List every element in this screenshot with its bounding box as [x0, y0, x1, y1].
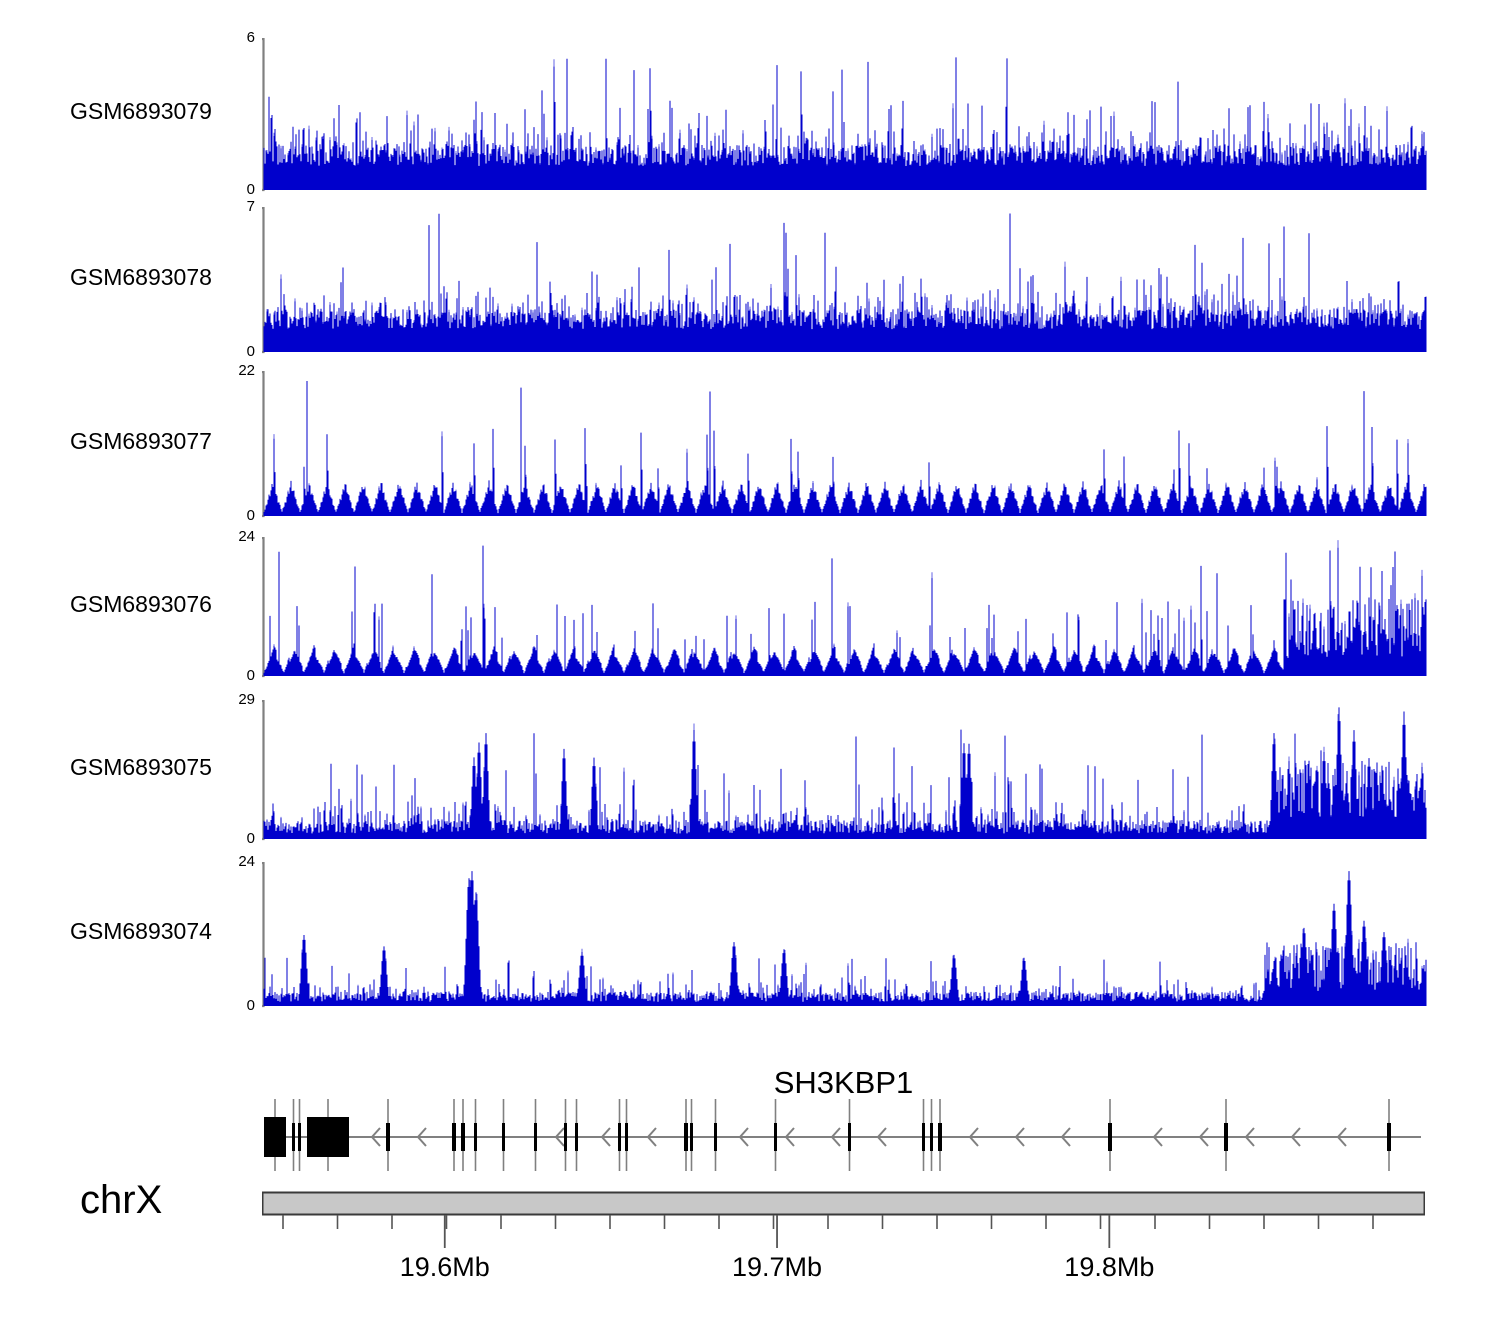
track-axis-max-label: 22	[215, 363, 255, 378]
track-axis-max-label: 7	[215, 199, 255, 214]
coverage-plot[interactable]	[262, 700, 1429, 841]
track-sample-label: GSM6893075	[70, 754, 235, 781]
track-sample-label: GSM6893076	[70, 591, 235, 618]
axis-tick-label: 19.8Mb	[1064, 1252, 1154, 1282]
axis-tick-label: 19.6Mb	[400, 1252, 490, 1282]
track-axis-min-label: 0	[215, 344, 255, 359]
coverage-plot[interactable]	[262, 537, 1429, 678]
genome-axis-ruler[interactable]: 19.6Mb19.7Mb19.8Mb	[262, 1190, 1425, 1300]
gene-model-track[interactable]	[262, 1095, 1425, 1175]
coverage-plot[interactable]	[262, 371, 1429, 518]
track-sample-label: GSM6893077	[70, 428, 235, 455]
coverage-plot[interactable]	[262, 207, 1429, 354]
track-axis-min-label: 0	[215, 831, 255, 846]
coverage-plot[interactable]	[262, 38, 1429, 192]
track-sample-label: GSM6893074	[70, 918, 235, 945]
track-axis-max-label: 29	[215, 692, 255, 707]
axis-tick-label: 19.7Mb	[732, 1252, 822, 1282]
chromosome-label: chrX	[80, 1178, 162, 1223]
track-sample-label: GSM6893078	[70, 264, 235, 291]
track-axis-min-label: 0	[215, 508, 255, 523]
track-sample-label: GSM6893079	[70, 98, 235, 125]
track-axis-min-label: 0	[215, 998, 255, 1013]
track-axis-max-label: 24	[215, 529, 255, 544]
genome-browser-view: GSM689307960GSM689307870GSM6893077220GSM…	[0, 0, 1500, 1320]
track-axis-max-label: 24	[215, 854, 255, 869]
coverage-plot[interactable]	[262, 862, 1429, 1008]
track-axis-max-label: 6	[215, 30, 255, 45]
track-axis-min-label: 0	[215, 668, 255, 683]
track-axis-min-label: 0	[215, 182, 255, 197]
